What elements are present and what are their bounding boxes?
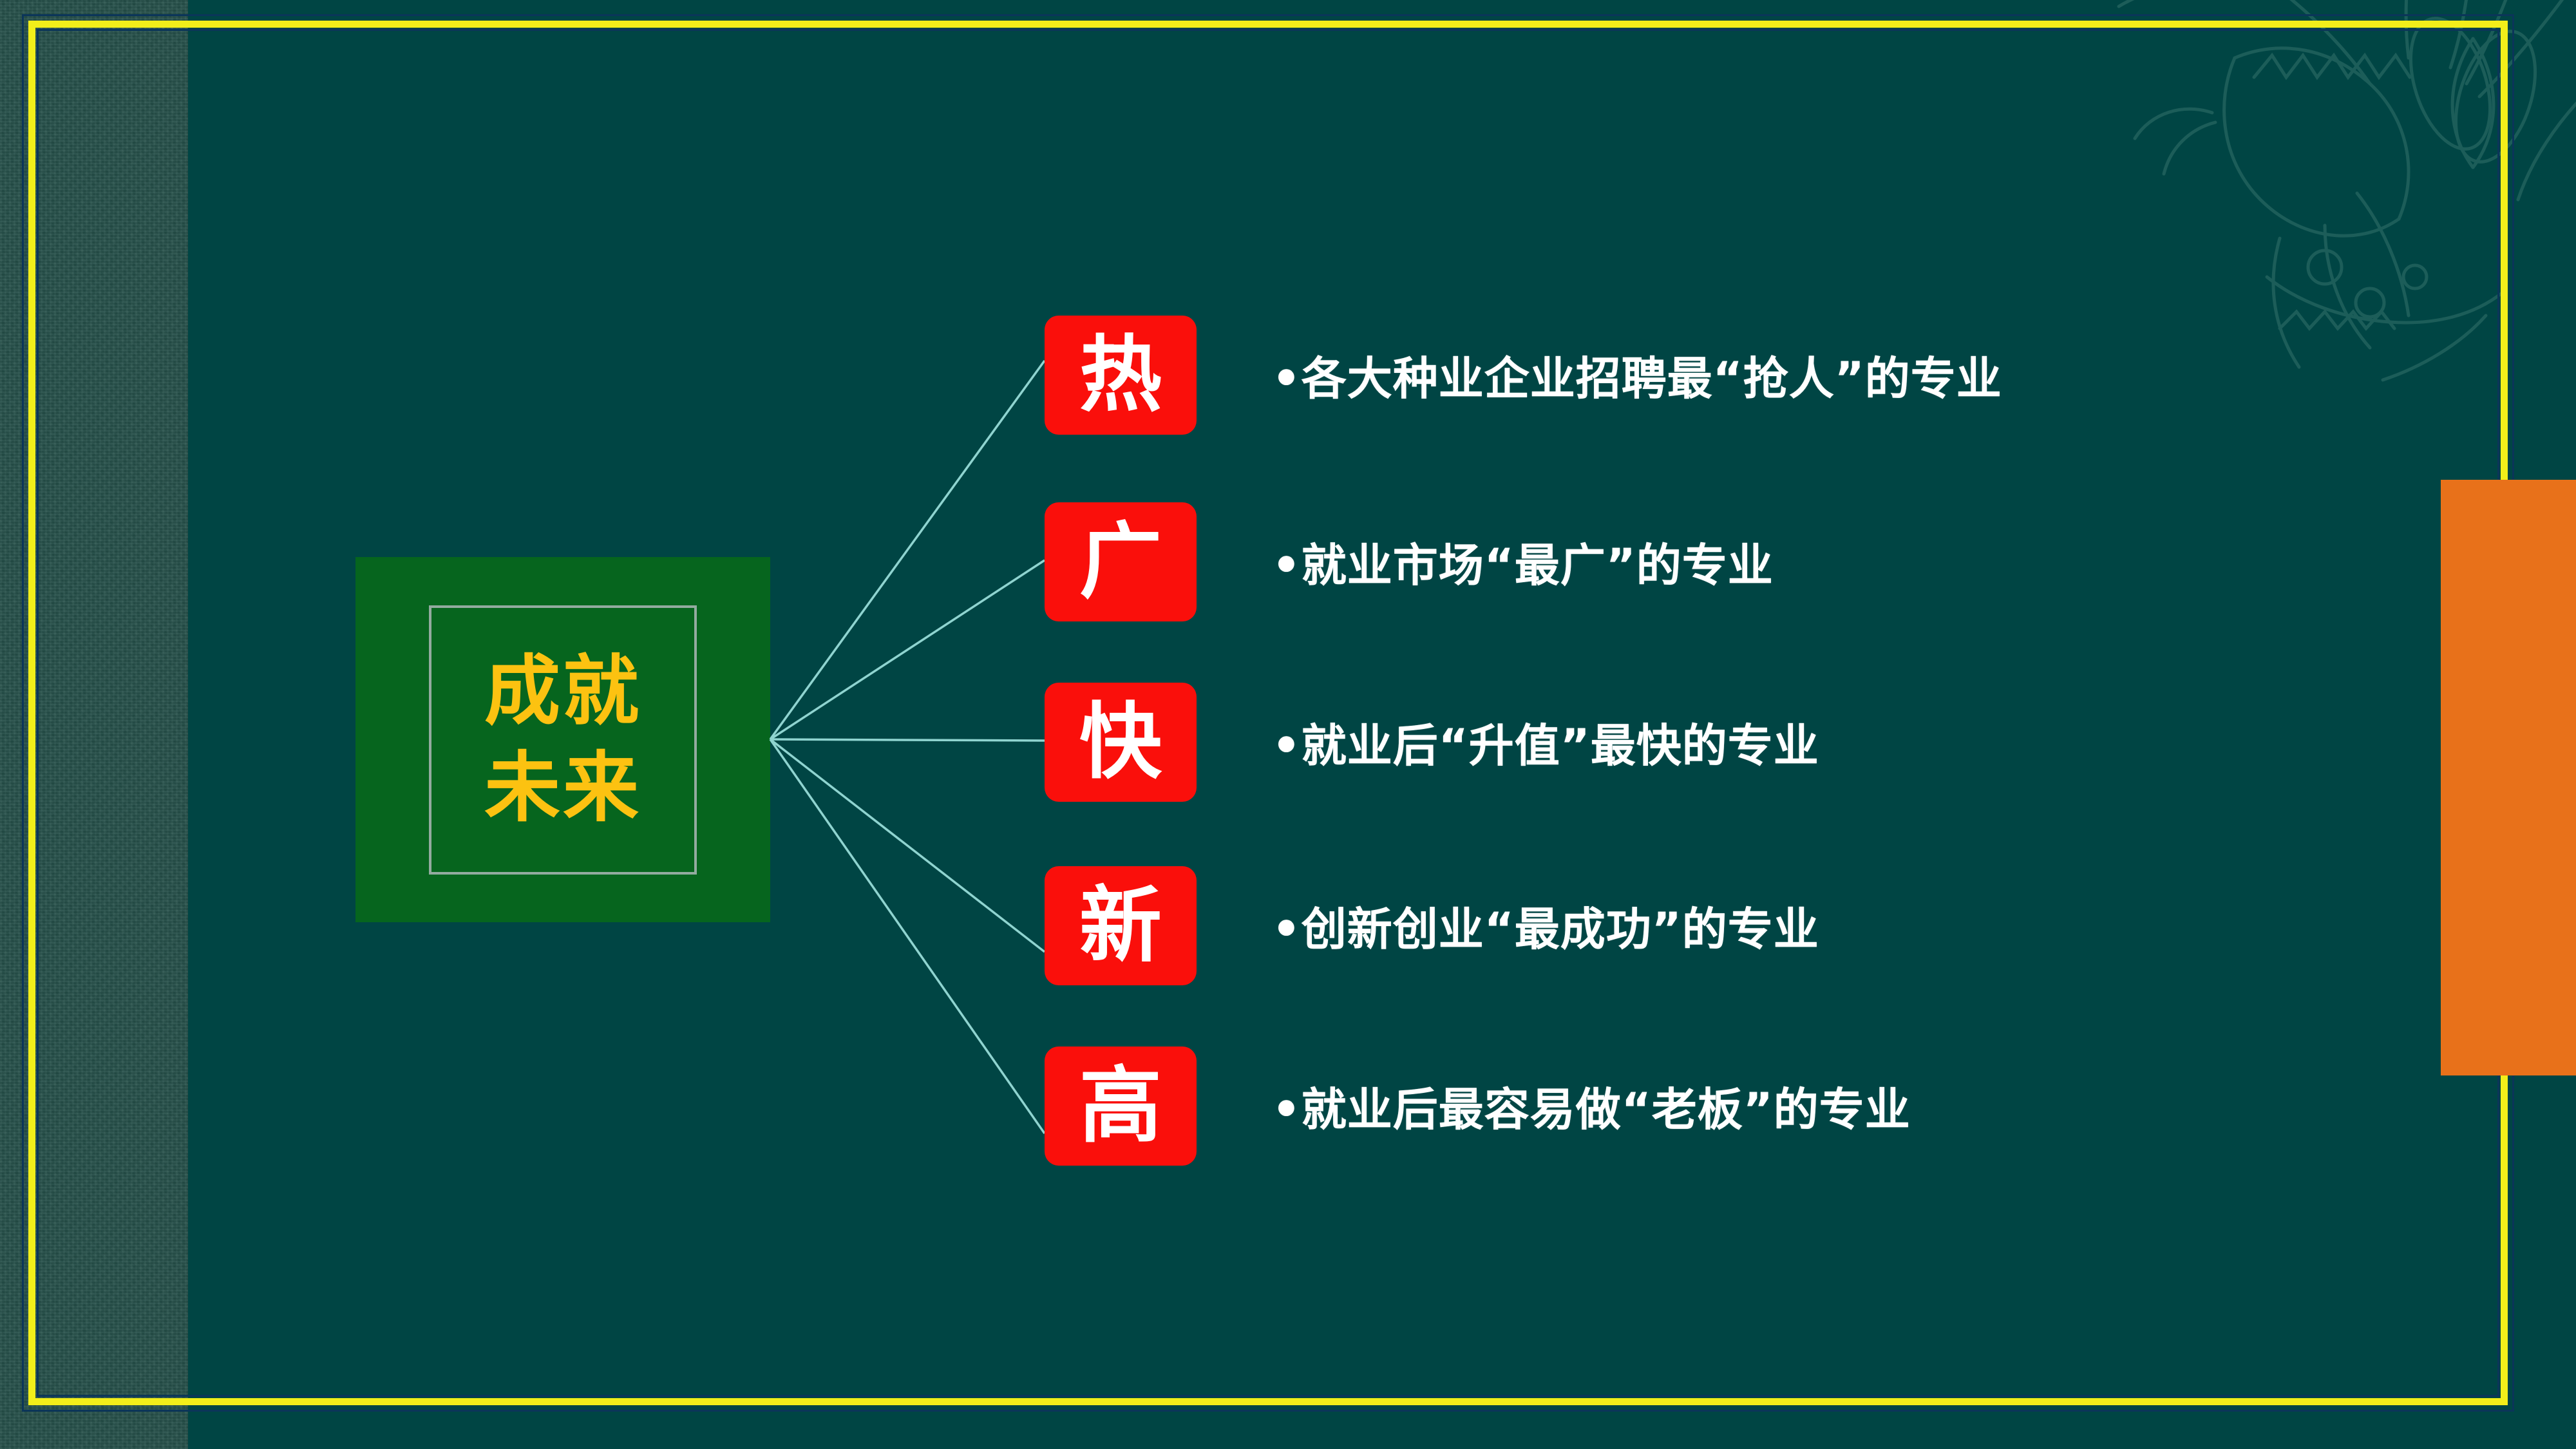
feature-row[interactable]: 热 •各大种业企业招聘最“抢人”的专业 — [1045, 316, 2494, 435]
feature-text: •就业后最容易做“老板”的专业 — [1272, 1046, 1911, 1166]
center-box-text: 成就 未来 — [355, 557, 770, 922]
connector-line-3 — [770, 739, 1045, 741]
badge-keyword[interactable]: 高 — [1045, 1046, 1197, 1166]
badge-keyword[interactable]: 热 — [1045, 316, 1197, 435]
connector-line-4 — [770, 739, 1045, 952]
feature-row[interactable]: 高 •就业后最容易做“老板”的专业 — [1045, 1046, 2494, 1166]
feature-row[interactable]: 新 •创新创业“最成功”的专业 — [1045, 866, 2494, 985]
left-textured-band — [0, 0, 188, 1449]
badge-keyword[interactable]: 快 — [1045, 683, 1197, 802]
center-box-line-2: 未来 — [484, 743, 641, 833]
connector-line-2 — [770, 560, 1045, 739]
feature-text: •就业后“升值”最快的专业 — [1272, 683, 1819, 802]
feature-text: •创新创业“最成功”的专业 — [1272, 866, 1819, 985]
feature-row[interactable]: 快 •就业后“升值”最快的专业 — [1045, 683, 2494, 802]
center-box-line-1: 成就 — [484, 647, 641, 736]
feature-row[interactable]: 广 •就业市场“最广”的专业 — [1045, 502, 2494, 621]
badge-keyword[interactable]: 新 — [1045, 866, 1197, 985]
badge-keyword[interactable]: 广 — [1045, 502, 1197, 621]
feature-text: •各大种业企业招聘最“抢人”的专业 — [1272, 316, 2002, 435]
center-concept-box: 成就 未来 — [355, 557, 770, 922]
connector-line-5 — [770, 739, 1045, 1133]
connector-line-1 — [770, 361, 1045, 739]
slide-canvas: 成就 未来 热 •各大种业企业招聘最“抢人”的专业 广 •就业市场“最广”的专业… — [0, 0, 2576, 1449]
feature-text: •就业市场“最广”的专业 — [1272, 502, 1774, 621]
